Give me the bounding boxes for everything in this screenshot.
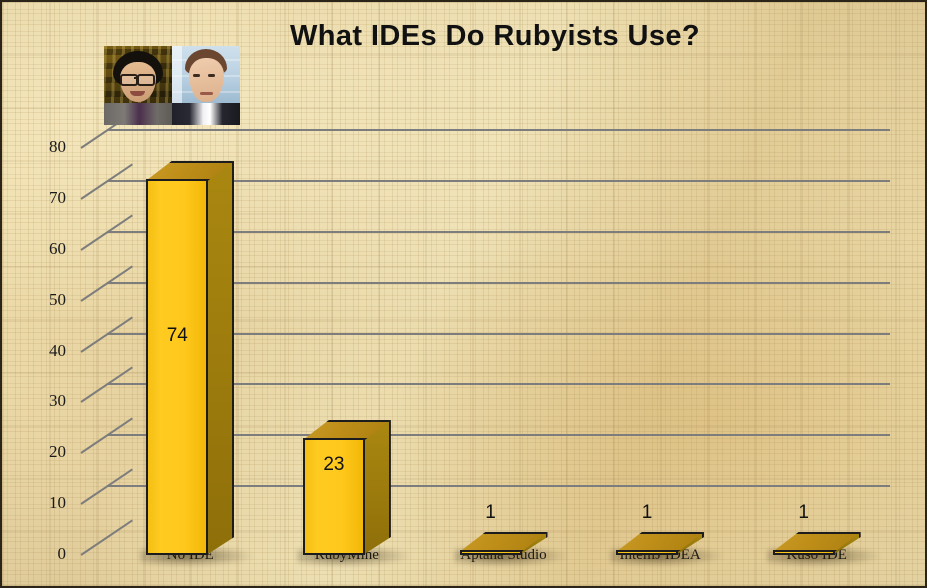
eyeglass-left-icon bbox=[120, 74, 138, 86]
eyeglass-bridge-icon bbox=[134, 77, 139, 79]
bar-value-label: 1 bbox=[460, 502, 522, 524]
bar-side-face bbox=[206, 161, 234, 555]
bar-front-face bbox=[460, 550, 522, 555]
photo-right bbox=[172, 46, 240, 125]
eye-left-shape bbox=[193, 74, 200, 77]
bar-front-face bbox=[773, 550, 835, 555]
bar-value-label: 1 bbox=[773, 502, 835, 524]
bar-front-face bbox=[616, 550, 678, 555]
torso-shape bbox=[104, 103, 172, 125]
torso-shape bbox=[172, 103, 240, 125]
slide-canvas: What IDEs Do Rubyists Use? 8070605040302… bbox=[0, 0, 927, 588]
bar-front-face bbox=[146, 179, 208, 555]
mouth-shape bbox=[200, 92, 213, 95]
bar-side-face bbox=[363, 420, 391, 555]
bar-value-label: 74 bbox=[146, 325, 208, 347]
photo-overlay-group bbox=[104, 46, 240, 125]
eyeglass-right-icon bbox=[137, 74, 155, 86]
bar-value-label: 1 bbox=[616, 502, 678, 524]
bar-value-label: 23 bbox=[303, 454, 365, 476]
photo-left bbox=[104, 46, 172, 125]
eye-right-shape bbox=[208, 74, 215, 77]
